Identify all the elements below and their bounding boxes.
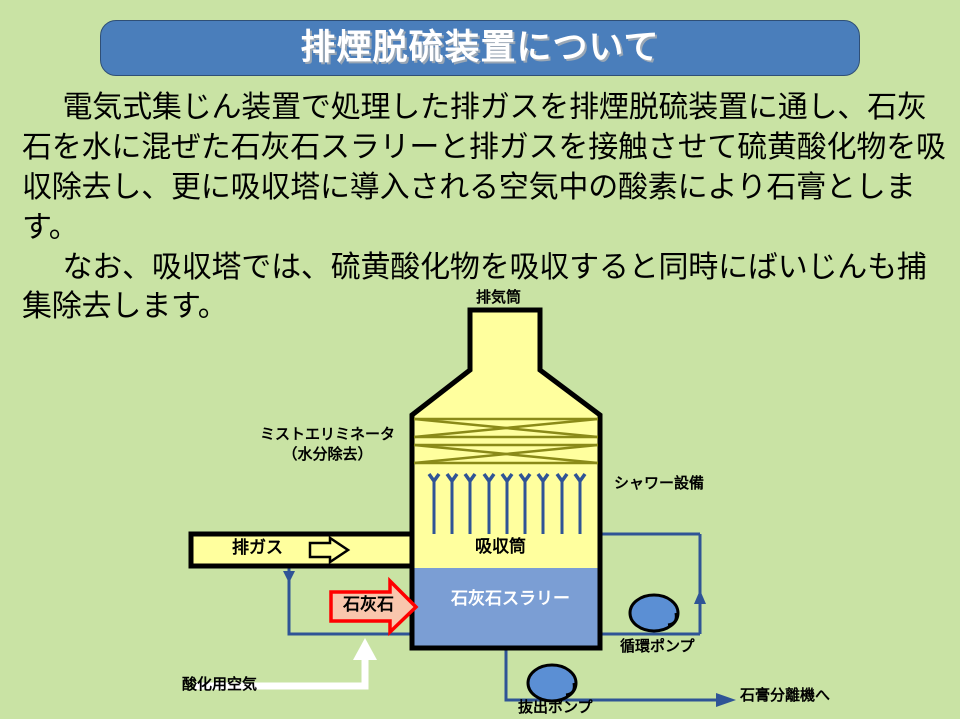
slide-canvas: 排煙脱硫装置について 電気式集じん装置で処理した排ガスを排煙脱硫装置に通し、石灰… — [0, 0, 960, 719]
body-text-block: 電気式集じん装置で処理した排ガスを排煙脱硫装置に通し、石灰石を水に混ぜた石灰石ス… — [22, 88, 947, 327]
absorber-tower — [412, 310, 600, 648]
gypsum-arrow — [716, 693, 736, 707]
oxidation-air-arrow — [195, 651, 365, 686]
flue-gas-duct — [191, 534, 421, 566]
label-mist-eliminator-line2: （水分除去） — [250, 446, 405, 463]
circulation-pump-icon — [630, 595, 678, 631]
label-shower-equipment: シャワー設備 — [614, 475, 704, 492]
page-title: 排煙脱硫装置について — [301, 31, 660, 66]
body-paragraph-2: なお、吸収塔では、硫黄酸化物を吸収すると同時にばいじんも捕集除去します。 — [22, 248, 947, 328]
label-extraction-pump: 抜出ポンプ — [518, 699, 593, 716]
mist-eliminator — [414, 419, 598, 463]
label-circulation-pump: 循環ポンプ — [620, 638, 695, 655]
label-limestone: 石灰石 — [343, 596, 394, 616]
extraction-pump-icon — [528, 665, 576, 701]
shower-nozzles — [429, 474, 585, 534]
label-absorber: 吸収筒 — [475, 538, 526, 558]
label-mist-eliminator-line1: ミストエリミネータ — [250, 426, 405, 443]
slurry-pool — [414, 568, 598, 647]
label-to-gypsum-separator: 石膏分離機へ — [740, 687, 830, 704]
label-oxidation-air: 酸化用空気 — [182, 676, 257, 693]
slide-title-banner: 排煙脱硫装置について — [100, 20, 860, 76]
limestone-arrow — [331, 581, 416, 632]
circulation-arrow-up — [694, 590, 706, 604]
circulation-piping — [289, 534, 700, 634]
label-limestone-slurry: 石灰石スラリー — [451, 590, 570, 610]
flue-gas-arrow — [310, 538, 348, 562]
label-flue-gas: 排ガス — [232, 539, 283, 559]
extraction-piping — [506, 648, 720, 700]
circulation-arrow-down — [283, 571, 295, 583]
body-paragraph-1: 電気式集じん装置で処理した排ガスを排煙脱硫装置に通し、石灰石を水に混ぜた石灰石ス… — [22, 88, 947, 248]
